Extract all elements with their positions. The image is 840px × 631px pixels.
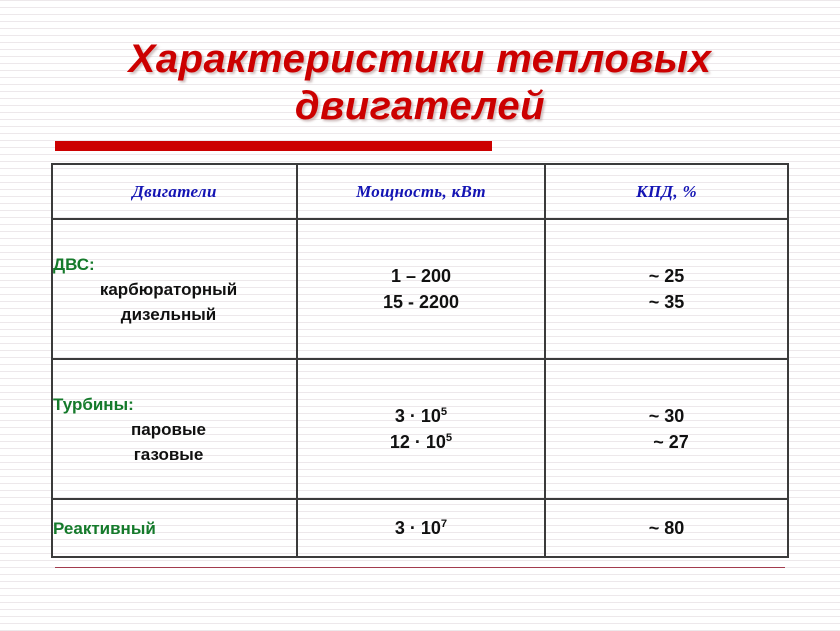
category-heading-dvs: ДВС: — [53, 252, 296, 277]
category-subitem-karburatorny: карбюраторный — [53, 277, 296, 302]
efficiency-value-parovye: ~ 30 — [546, 403, 787, 429]
power-exponent-parovye: 5 — [441, 406, 447, 418]
slide-canvas: Характеристики тепловых двигателей Двига… — [0, 0, 840, 631]
power-mantissa-reactive: 3 · 10 — [395, 518, 441, 538]
title-underline-bar — [55, 141, 492, 151]
table-row: Реактивный 3 · 107 ~ 80 — [52, 499, 788, 557]
cell-efficiency-reactive: ~ 80 — [545, 499, 788, 557]
cell-engine-category-turbines: Турбины: паровые газовые — [52, 359, 297, 499]
category-heading-turbines: Турбины: — [53, 392, 296, 417]
cell-efficiency-dvs: ~ 25 ~ 35 — [545, 219, 788, 359]
category-subitem-gazovye: газовые — [53, 442, 296, 467]
category-subitem-parovye: паровые — [53, 417, 296, 442]
power-value-karburatorny: 1 – 200 — [298, 263, 544, 289]
power-exponent-gazovye: 5 — [446, 432, 452, 444]
power-value-dizelny: 15 - 2200 — [298, 289, 544, 315]
footer-divider-line — [55, 567, 785, 568]
efficiency-value-gazovye: ~ 27 — [546, 429, 787, 455]
column-header-power: Мощность, кВт — [297, 164, 545, 219]
power-value-gazovye: 12 · 105 — [298, 429, 544, 455]
table-row: Турбины: паровые газовые 3 · 105 12 · 10… — [52, 359, 788, 499]
cell-power-turbines: 3 · 105 12 · 105 — [297, 359, 545, 499]
cell-power-dvs: 1 – 200 15 - 2200 — [297, 219, 545, 359]
page-title-line-1: Характеристики тепловых — [0, 36, 840, 83]
efficiency-value-karburatorny: ~ 25 — [546, 263, 787, 289]
power-mantissa-parovye: 3 · 10 — [395, 406, 441, 426]
cell-efficiency-turbines: ~ 30 ~ 27 — [545, 359, 788, 499]
power-value-reactive: 3 · 107 — [298, 515, 544, 541]
table-header-row: Двигатели Мощность, кВт КПД, % — [52, 164, 788, 219]
power-value-parovye: 3 · 105 — [298, 403, 544, 429]
heat-engine-characteristics-table: Двигатели Мощность, кВт КПД, % ДВС: карб… — [51, 163, 789, 558]
column-header-efficiency: КПД, % — [545, 164, 788, 219]
cell-engine-category-reactive: Реактивный — [52, 499, 297, 557]
efficiency-value-dizelny: ~ 35 — [546, 289, 787, 315]
column-header-engines: Двигатели — [52, 164, 297, 219]
power-exponent-reactive: 7 — [441, 518, 447, 530]
efficiency-value-reactive: ~ 80 — [546, 515, 787, 541]
page-title-line-2: двигателей — [0, 83, 840, 130]
table-row: ДВС: карбюраторный дизельный 1 – 200 15 … — [52, 219, 788, 359]
cell-power-reactive: 3 · 107 — [297, 499, 545, 557]
page-title: Характеристики тепловых двигателей — [0, 36, 840, 130]
cell-engine-category-dvs: ДВС: карбюраторный дизельный — [52, 219, 297, 359]
power-mantissa-gazovye: 12 · 10 — [390, 432, 446, 452]
category-subitem-dizelny: дизельный — [53, 302, 296, 327]
